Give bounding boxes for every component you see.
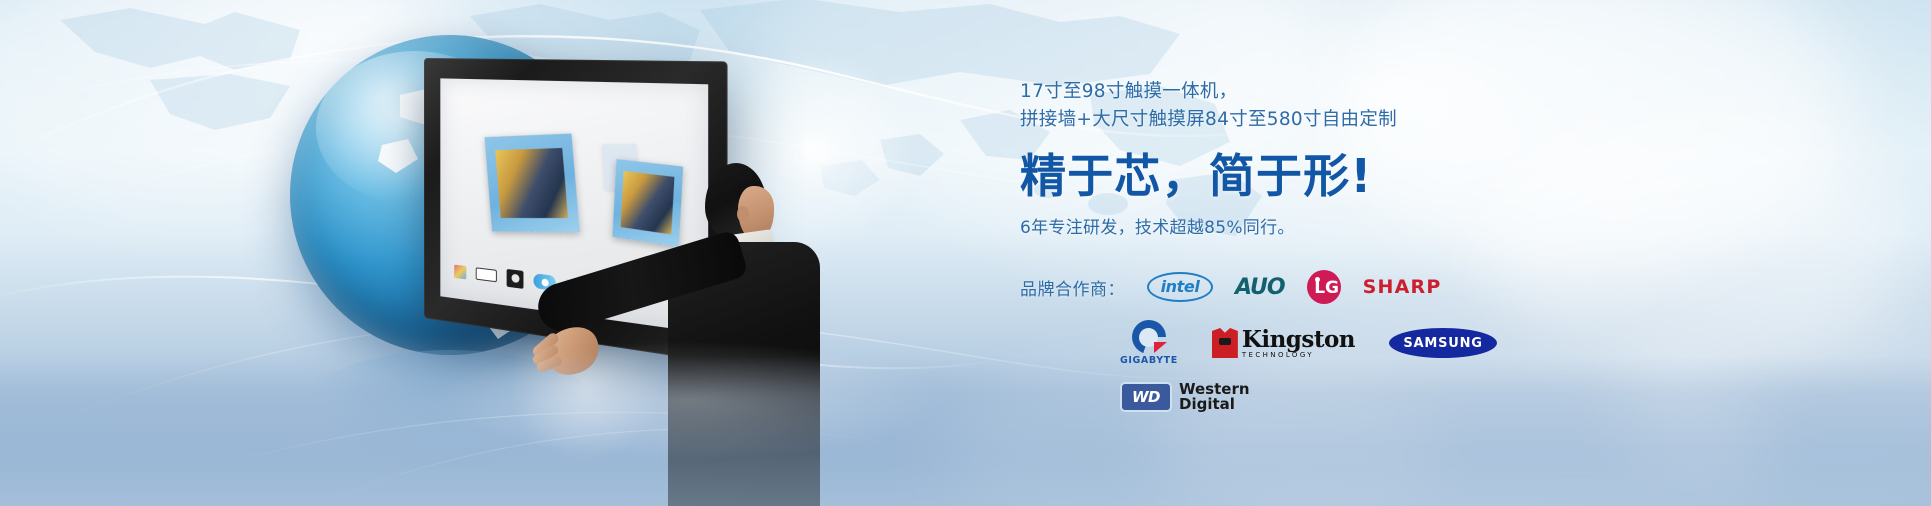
auo-logo: AUO (1235, 275, 1285, 300)
partner-label: 品牌合作商： (1020, 275, 1125, 300)
presenter-touching-screen (520, 150, 820, 506)
promo-banner: 17寸至98寸触摸一体机， 拼接墙+大尺寸触摸屏84寸至580寸自由定制 精于芯… (0, 0, 1931, 506)
lg-logo-text: LG (1314, 278, 1339, 298)
sharp-logo: SHARP (1363, 276, 1442, 298)
wd-mark-icon: WD (1120, 382, 1172, 412)
headline: 精于芯，简于形! (1020, 151, 1580, 203)
kingston-logo: Kingston TECHNOLOGY (1212, 328, 1355, 359)
taskbar-window-icon[interactable] (476, 267, 497, 282)
samsung-logo: SAMSUNG (1389, 328, 1497, 358)
western-digital-logo: WD Western Digital (1120, 382, 1250, 413)
partner-logos: 品牌合作商： intel AUO LG SHARP GIGABYTE Kings… (1020, 270, 1640, 413)
gigabyte-logo: GIGABYTE (1120, 320, 1178, 366)
intel-logo-text: intel (1161, 277, 1200, 296)
lead-line-2: 拼接墙+大尺寸触摸屏84寸至580寸自由定制 (1020, 106, 1580, 134)
kingston-logo-text: Kingston TECHNOLOGY (1242, 328, 1355, 359)
gigabyte-mark-icon (1132, 320, 1166, 354)
partner-row-3: WD Western Digital (1020, 382, 1640, 413)
cloud-blob (1620, 300, 1931, 506)
kingston-name: Kingston (1242, 328, 1355, 351)
kingston-mark-icon (1212, 328, 1238, 358)
wd-logo-text: Western Digital (1179, 382, 1250, 413)
lead-line-1: 17寸至98寸触摸一体机， (1020, 78, 1580, 106)
presenter-ear (737, 206, 749, 222)
copy-block: 17寸至98寸触摸一体机， 拼接墙+大尺寸触摸屏84寸至580寸自由定制 精于芯… (1020, 78, 1580, 238)
gigabyte-logo-text: GIGABYTE (1120, 355, 1178, 366)
lg-logo: LG (1307, 270, 1341, 304)
kingston-subtitle: TECHNOLOGY (1242, 352, 1355, 359)
floor-reflection (0, 356, 1931, 506)
partner-row-1: 品牌合作商： intel AUO LG SHARP (1020, 270, 1640, 304)
wd-line-2: Digital (1179, 397, 1250, 412)
subline: 6年专注研发，技术超越85%同行。 (1020, 213, 1580, 238)
partner-row-2: GIGABYTE Kingston TECHNOLOGY SAMSUNG (1020, 320, 1640, 366)
taskbar-gallery-icon[interactable] (454, 264, 466, 279)
intel-logo: intel (1147, 272, 1213, 302)
